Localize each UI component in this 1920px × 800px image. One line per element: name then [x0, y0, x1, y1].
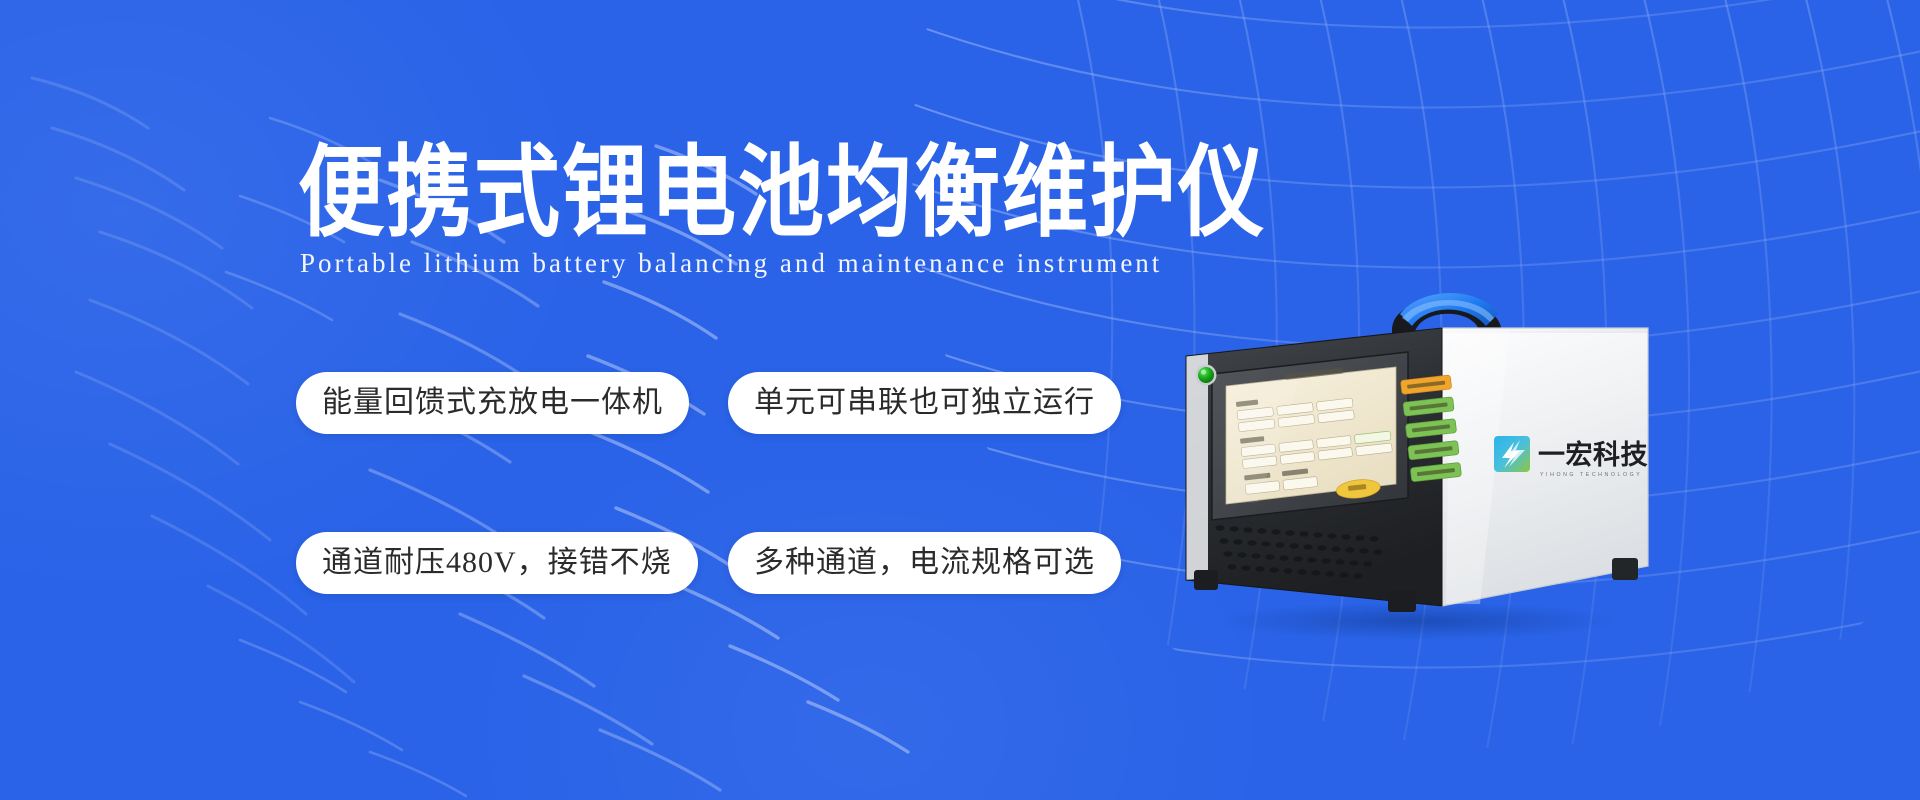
feature-pill-4[interactable]: 多种通道，电流规格可选 — [728, 532, 1121, 594]
feature-pill-1[interactable]: 能量回馈式充放电一体机 — [296, 372, 689, 434]
product-device-image: 一宏科技 YIHONG TECHNOLOGY — [1150, 270, 1680, 650]
device-shadow — [1218, 602, 1618, 640]
device-foot-right — [1612, 558, 1638, 580]
feature-pill-3[interactable]: 通道耐压480V，接错不烧 — [296, 532, 698, 594]
power-button[interactable] — [1196, 365, 1217, 386]
hero-banner: 便携式锂电池均衡维护仪 Portable lithium battery bal… — [0, 0, 1920, 800]
feature-pill-2[interactable]: 单元可串联也可独立运行 — [728, 372, 1121, 434]
brand-logo-text: 一宏科技 — [1538, 439, 1648, 470]
page-subtitle: Portable lithium battery balancing and m… — [300, 248, 1162, 278]
device-foot-left — [1194, 570, 1218, 590]
brand-logo: 一宏科技 YIHONG TECHNOLOGY — [1494, 436, 1648, 478]
banner-content: 便携式锂电池均衡维护仪 Portable lithium battery bal… — [0, 0, 1920, 800]
device-illustration: 一宏科技 YIHONG TECHNOLOGY — [1150, 270, 1680, 650]
page-title: 便携式锂电池均衡维护仪 — [298, 133, 1266, 254]
device-foot-mid — [1388, 590, 1416, 612]
brand-logo-mark — [1494, 436, 1530, 472]
brand-logo-pinyin: YIHONG TECHNOLOGY — [1540, 472, 1642, 478]
